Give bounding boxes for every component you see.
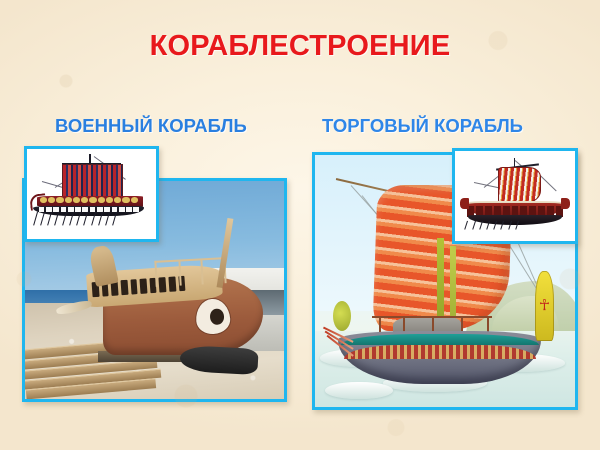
- steering-oars: [320, 336, 377, 381]
- striped-sail: [62, 164, 123, 198]
- column-heading-merchant: ТОРГОВЫЙ КОРАБЛЬ: [322, 115, 523, 137]
- striped-sail: [498, 167, 541, 203]
- slide-canvas: КОРАБЛЕСТРОЕНИЕ ВОЕННЫЙ КОРАБЛЬ ТОРГОВЫЙ…: [0, 0, 600, 450]
- shield-row: [40, 197, 138, 202]
- column-heading-warship: ВОЕННЫЙ КОРАБЛЬ: [55, 115, 247, 137]
- merchant-ship-drawing: [455, 151, 575, 241]
- deck-railing: [154, 258, 227, 288]
- ankh-icon: ☥: [539, 298, 550, 313]
- oars: [35, 212, 138, 232]
- greek-warship-drawing: [27, 149, 156, 239]
- stern-post: ☥: [535, 271, 555, 342]
- page-title: КОРАБЛЕСТРОЕНИЕ: [0, 30, 600, 63]
- prow-right: [561, 198, 571, 209]
- prow-left: [460, 198, 470, 209]
- merchant-inset-panel[interactable]: [452, 148, 578, 244]
- bow-post: [333, 301, 351, 331]
- prow: [29, 193, 47, 211]
- warship-inset-panel[interactable]: [24, 146, 159, 242]
- oar-holes: [39, 207, 140, 212]
- oars: [465, 221, 537, 235]
